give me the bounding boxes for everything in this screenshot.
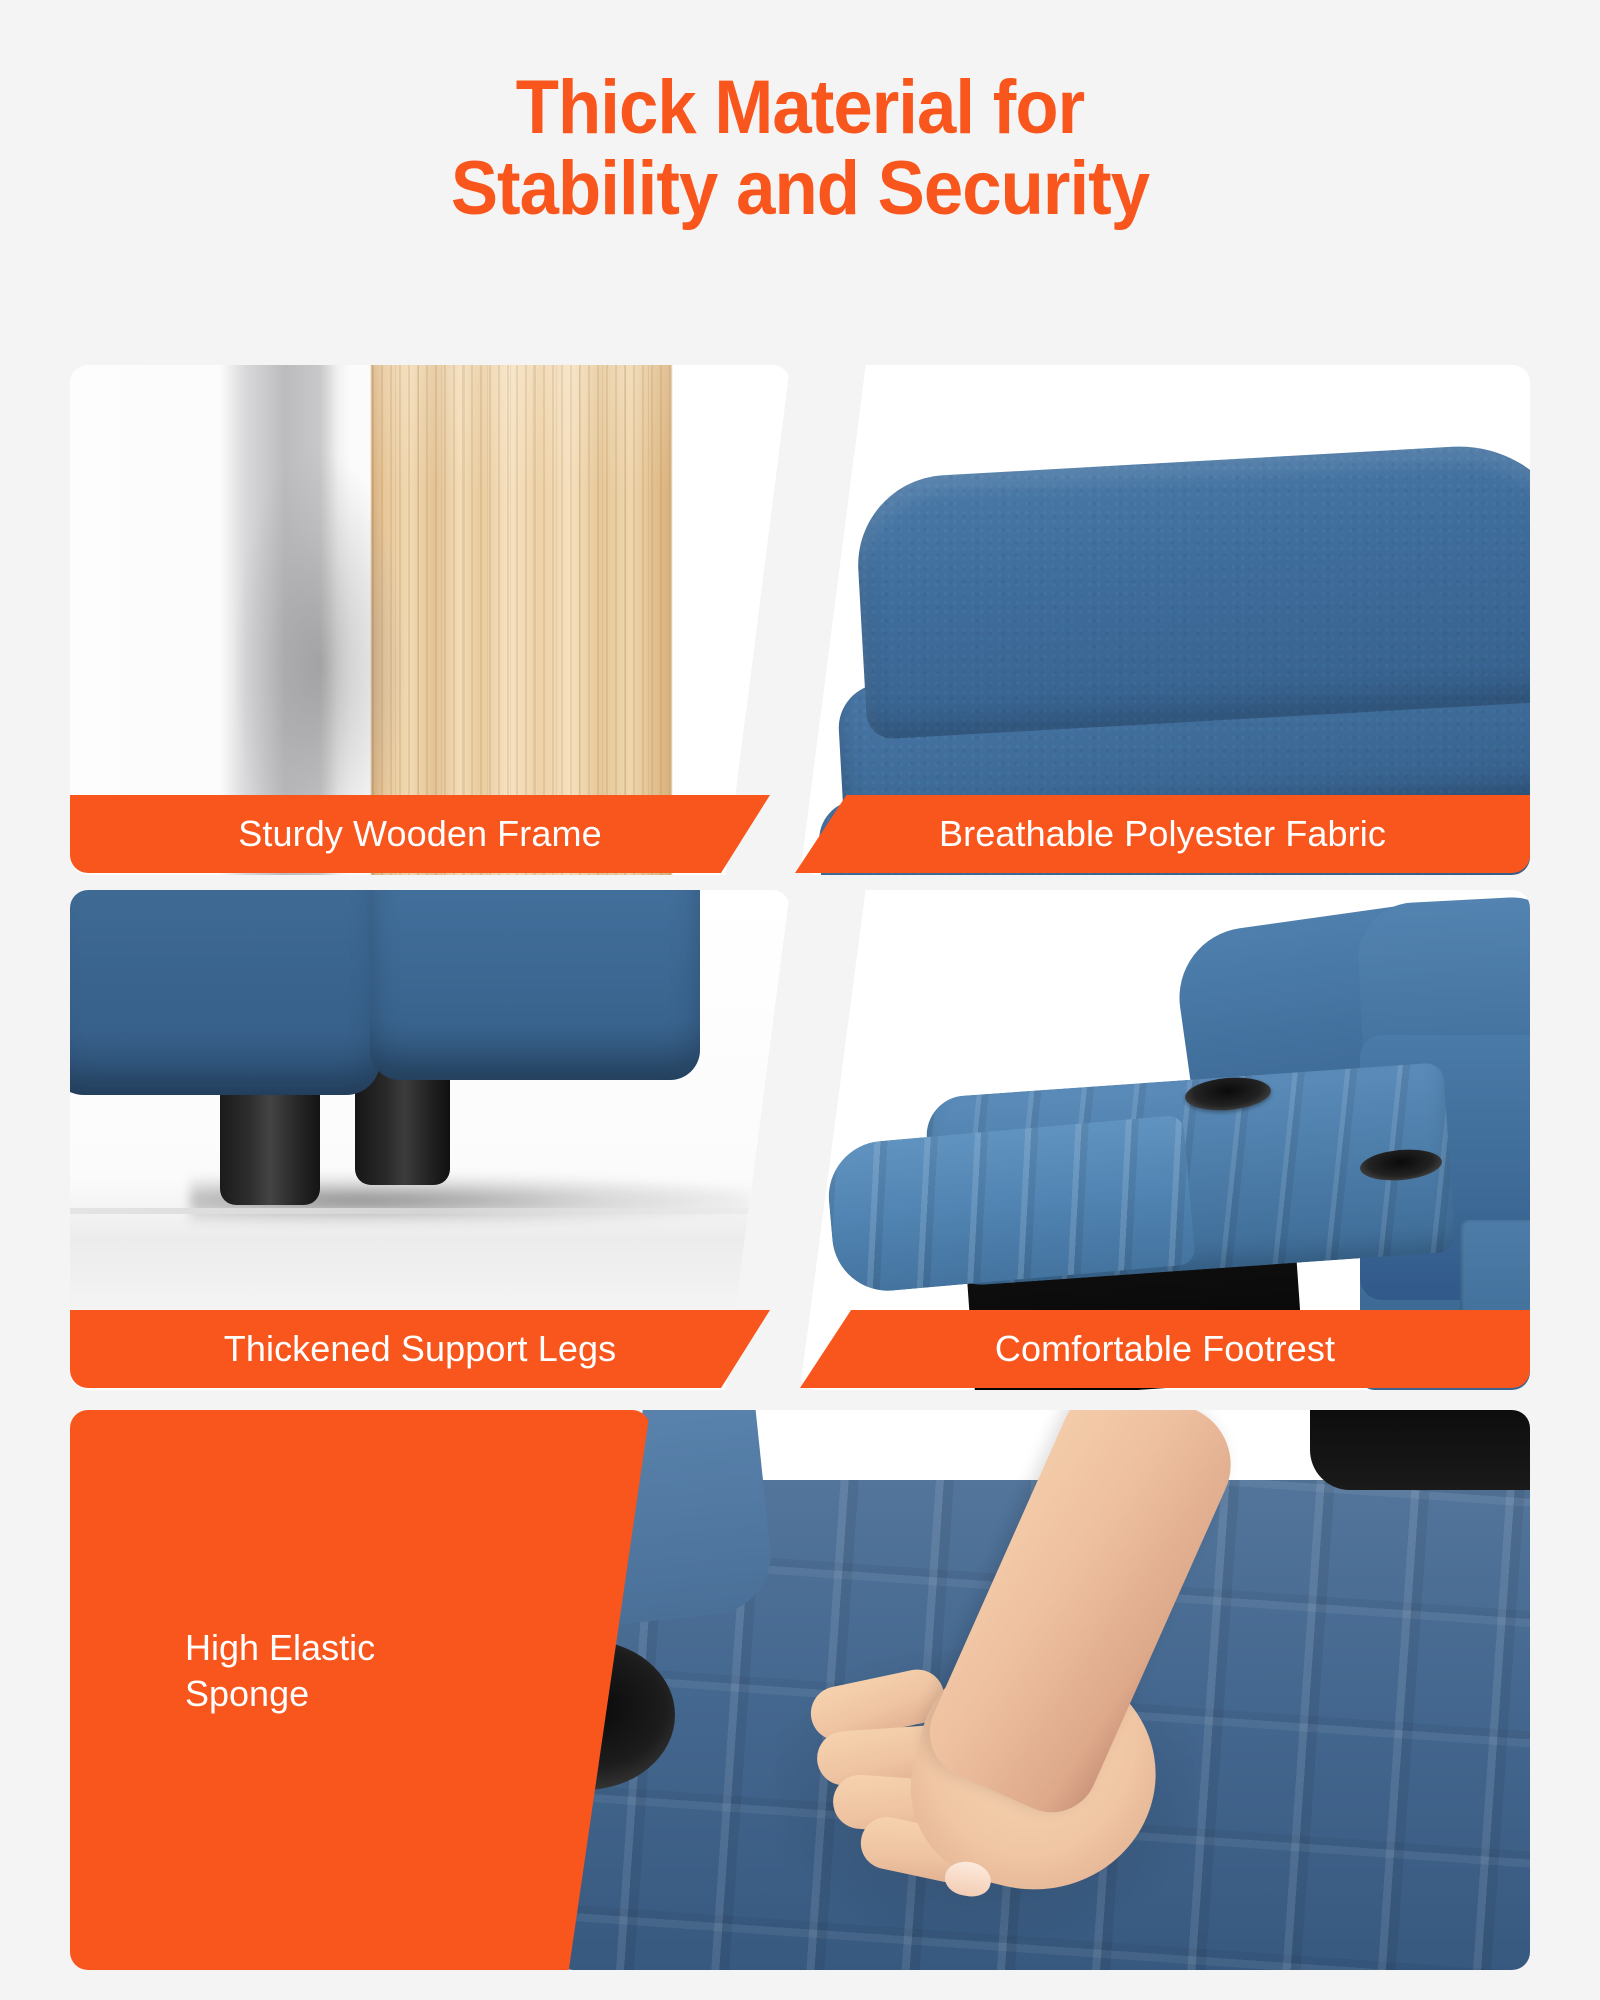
support-leg-rear <box>355 1070 450 1185</box>
sponge-caption-label: High Elastic Sponge <box>185 1625 375 1717</box>
sponge-photo-card <box>555 1410 1530 1970</box>
caption-label: Thickened Support Legs <box>224 1328 616 1370</box>
caption-support-legs: Thickened Support Legs <box>70 1310 770 1388</box>
floor-edge <box>70 1208 790 1214</box>
caption-label: Sturdy Wooden Frame <box>238 813 601 855</box>
caption-polyester: Breathable Polyester Fabric <box>795 795 1530 873</box>
infographic-page: Thick Material for Stability and Securit… <box>0 0 1600 2000</box>
caption-label: Comfortable Footrest <box>995 1328 1335 1370</box>
caption-wooden-frame: Sturdy Wooden Frame <box>70 795 770 873</box>
recliner-footrest-extension <box>824 1115 1196 1296</box>
caption-label: Breathable Polyester Fabric <box>939 813 1386 855</box>
sofa-base-right <box>370 890 700 1080</box>
dark-backdrop <box>1310 1410 1530 1490</box>
feature-grid: Sturdy Wooden Frame Breathable Polyester… <box>0 0 1600 2000</box>
support-leg-front <box>220 1080 320 1205</box>
sofa-base-left <box>70 890 380 1095</box>
caption-footrest: Comfortable Footrest <box>800 1310 1530 1388</box>
hand-press-cushion-photo <box>555 1410 1530 1970</box>
